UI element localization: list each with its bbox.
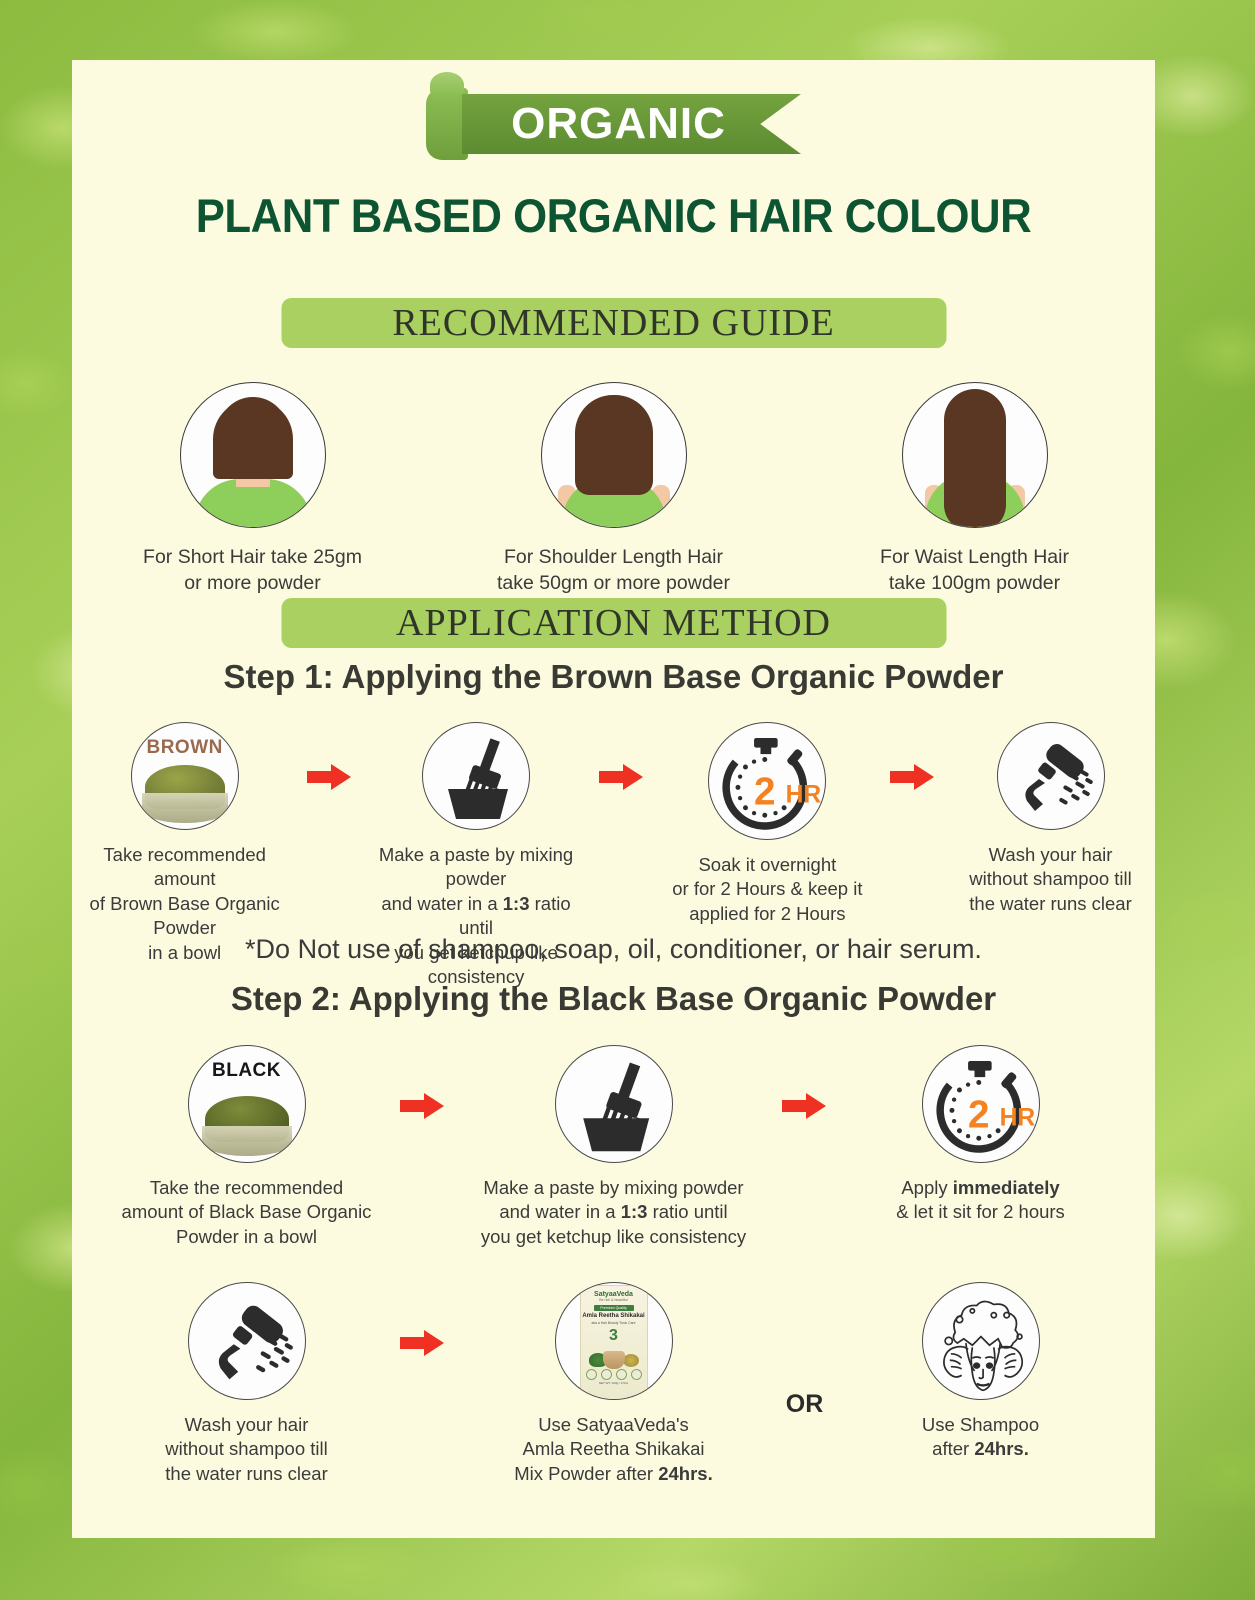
guide-item-short-hair: For Short Hair take 25gm or more powder <box>93 382 413 597</box>
caption-line: after 24hrs. <box>856 1437 1106 1461</box>
step2-item-1: BLACK Take the recommended amount of Bla… <box>122 1045 372 1249</box>
product-number: 3 <box>609 1327 618 1345</box>
stopwatch-2hr-icon: 2 HR <box>922 1045 1040 1163</box>
caption-line: or for 2 Hours & keep it <box>655 877 880 901</box>
ribbon-flag: ORGANIC <box>462 94 801 154</box>
arrow-right-icon <box>599 764 645 790</box>
product-subtitle: aka a Hair Beauty Tonic Care <box>581 1321 647 1325</box>
caption-line: Apply immediately <box>856 1176 1106 1200</box>
caption-line: Make a paste by mixing powder <box>474 1176 754 1200</box>
ribbon-tail-icon <box>426 88 468 160</box>
guide-caption: For Waist Length Hair take 100gm powder <box>815 544 1135 597</box>
caption-line: Take the recommended <box>122 1176 372 1200</box>
caption-line: Use Shampoo <box>856 1413 1106 1437</box>
guide-caption-line2: take 50gm or more powder <box>454 570 774 596</box>
banner-recommended-guide-label: RECOMMENDED GUIDE <box>392 301 834 345</box>
arrow-right-icon <box>400 1330 446 1356</box>
or-separator-label: OR <box>782 1390 828 1419</box>
step2-caption-5: Use SatyaaVeda's Amla Reetha Shikakai Mi… <box>474 1413 754 1486</box>
step2-item-4: Wash your hair without shampoo till the … <box>122 1282 372 1486</box>
step1-item-3: 2 HR Soak it overnight or for 2 Hours & … <box>655 722 880 926</box>
arrow-right-icon <box>400 1093 446 1119</box>
product-tagline: Be rich & beautiful <box>581 1298 647 1302</box>
caption-line: Take recommended amount <box>72 843 297 892</box>
brush-bowl-icon <box>555 1045 673 1163</box>
step2-caption-4: Wash your hair without shampoo till the … <box>122 1413 372 1486</box>
caption-line: Use SatyaaVeda's <box>474 1413 754 1437</box>
shampoo-hair-wash-icon <box>922 1282 1040 1400</box>
timer-number-text: 2 <box>754 771 775 814</box>
step2-caption-1: Take the recommended amount of Black Bas… <box>122 1176 372 1249</box>
step1-note: *Do Not use of shampoo, soap, oil, condi… <box>72 934 1155 965</box>
caption-part: and water in a <box>499 1201 620 1222</box>
step2-caption-2: Make a paste by mixing powder and water … <box>474 1176 754 1249</box>
glass-bowl <box>142 793 228 823</box>
product-brand: SatyaaVeda <box>581 1291 647 1298</box>
product-name: Amla Reetha Shikakai <box>581 1313 647 1320</box>
black-powder-bowl-icon: BLACK <box>188 1045 306 1163</box>
caption-line: Soak it overnight <box>655 853 880 877</box>
step1-item-1: BROWN Take recommended amount of Brown B… <box>72 722 297 965</box>
step2-item-5: SatyaaVeda Be rich & beautiful Premium Q… <box>474 1282 754 1486</box>
organic-ribbon-header: ORGANIC <box>72 88 1155 160</box>
step1-item-4: Wash your hair without shampoo till the … <box>946 722 1155 916</box>
caption-part: Mix Powder after <box>514 1463 658 1484</box>
banner-application-method: APPLICATION METHOD <box>281 598 946 648</box>
step1-caption-3: Soak it overnight or for 2 Hours & keep … <box>655 853 880 926</box>
waist-hair-avatar-icon <box>902 382 1048 528</box>
timer-unit-text: HR <box>999 1104 1035 1131</box>
step2-heading: Step 2: Applying the Black Base Organic … <box>72 980 1155 1018</box>
caption-line: without shampoo till <box>122 1437 372 1461</box>
guide-item-shoulder-hair: For Shoulder Length Hair take 50gm or mo… <box>454 382 774 597</box>
duration-value: 24hrs. <box>658 1463 713 1484</box>
caption-line: Mix Powder after 24hrs. <box>474 1462 754 1486</box>
guide-caption-line2: take 100gm powder <box>815 570 1135 596</box>
caption-part: and water in a <box>381 893 502 914</box>
step2-caption-6: Use Shampoo after 24hrs. <box>856 1413 1106 1462</box>
shoulder-hair-avatar-icon <box>541 382 687 528</box>
content-panel: ORGANIC PLANT BASED ORGANIC HAIR COLOUR … <box>72 60 1155 1538</box>
shower-head-icon <box>188 1282 306 1400</box>
step2-item-2: Make a paste by mixing powder and water … <box>474 1045 754 1249</box>
caption-line: Wash your hair <box>946 843 1155 867</box>
guide-caption-line1: For Shoulder Length Hair <box>454 544 774 570</box>
caption-line: and water in a 1:3 ratio until <box>474 1200 754 1224</box>
bowl-label: BLACK <box>189 1060 305 1082</box>
step2-caption-3: Apply immediately & let it sit for 2 hou… <box>856 1176 1106 1225</box>
product-weight: NET WT. 100g / 3.5oz <box>581 1381 647 1385</box>
arrow-right-icon <box>890 764 936 790</box>
ribbon-graphic: ORGANIC <box>426 88 801 160</box>
caption-line: Wash your hair <box>122 1413 372 1437</box>
shower-head-icon <box>997 722 1105 830</box>
caption-line: Amla Reetha Shikakai <box>474 1437 754 1461</box>
step2-item-6: Use Shampoo after 24hrs. <box>856 1282 1106 1462</box>
bowl-label: BROWN <box>132 737 238 759</box>
guide-caption-line2: or more powder <box>93 570 413 596</box>
caption-part: Apply <box>901 1177 952 1198</box>
caption-line: the water runs clear <box>946 892 1155 916</box>
stopwatch-2hr-icon: 2 HR <box>708 722 826 840</box>
caption-line: without shampoo till <box>946 867 1155 891</box>
guide-caption-line1: For Short Hair take 25gm <box>93 544 413 570</box>
caption-line: amount of Black Base Organic <box>122 1200 372 1224</box>
caption-part: ratio until <box>647 1201 727 1222</box>
emphasis-word: immediately <box>953 1177 1060 1198</box>
timer-number-text: 2 <box>968 1094 989 1137</box>
step2-item-3: 2 HR Apply immediately & let it sit for … <box>856 1045 1106 1225</box>
short-hair-avatar-icon <box>180 382 326 528</box>
timer-unit-text: HR <box>786 781 822 808</box>
caption-line: the water runs clear <box>122 1462 372 1486</box>
duration-value: 24hrs. <box>974 1438 1029 1459</box>
page-title: PLANT BASED ORGANIC HAIR COLOUR <box>110 188 1117 243</box>
step2-flow-row2: Wash your hair without shampoo till the … <box>72 1282 1155 1486</box>
caption-line: & let it sit for 2 hours <box>856 1200 1106 1224</box>
product-badge: Premium Quality <box>594 1305 634 1311</box>
guide-caption: For Shoulder Length Hair take 50gm or mo… <box>454 544 774 597</box>
banner-application-method-label: APPLICATION METHOD <box>396 601 831 645</box>
guide-item-waist-hair: For Waist Length Hair take 100gm powder <box>815 382 1135 597</box>
caption-line: Make a paste by mixing powder <box>363 843 588 892</box>
guide-caption: For Short Hair take 25gm or more powder <box>93 544 413 597</box>
ratio-value: 1:3 <box>621 1201 648 1222</box>
arrow-right-icon <box>307 764 353 790</box>
banner-recommended-guide: RECOMMENDED GUIDE <box>281 298 946 348</box>
step1-caption-2: Make a paste by mixing powder and water … <box>363 843 588 989</box>
caption-line: you get ketchup like consistency <box>474 1225 754 1249</box>
arrow-right-icon <box>782 1093 828 1119</box>
guide-caption-line1: For Waist Length Hair <box>815 544 1135 570</box>
ratio-value: 1:3 <box>503 893 530 914</box>
step2-flow-row1: BLACK Take the recommended amount of Bla… <box>72 1045 1155 1249</box>
brush-bowl-icon <box>422 722 530 830</box>
step1-caption-4: Wash your hair without shampoo till the … <box>946 843 1155 916</box>
caption-part: after <box>932 1438 974 1459</box>
step1-heading: Step 1: Applying the Brown Base Organic … <box>72 658 1155 696</box>
product-pouch-icon: SatyaaVeda Be rich & beautiful Premium Q… <box>555 1282 673 1400</box>
caption-line: Powder in a bowl <box>122 1225 372 1249</box>
brown-powder-bowl-icon: BROWN <box>131 722 239 830</box>
caption-line: applied for 2 Hours <box>655 902 880 926</box>
ribbon-label: ORGANIC <box>511 99 752 149</box>
recommended-guide-row: For Short Hair take 25gm or more powder … <box>72 382 1155 597</box>
